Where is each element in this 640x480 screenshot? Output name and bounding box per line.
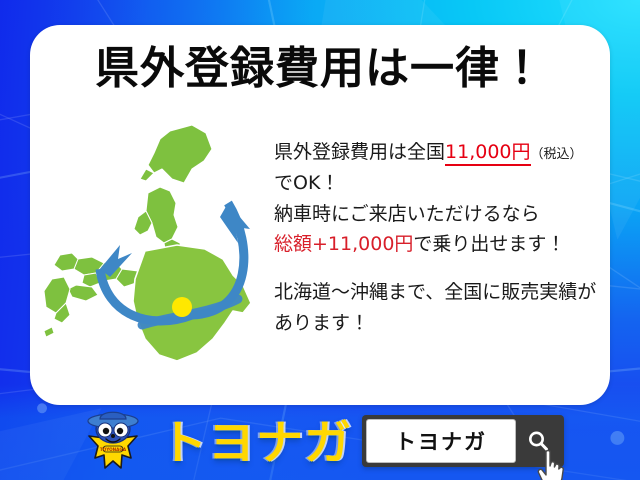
- search-button[interactable]: [516, 419, 560, 463]
- copy-line-3: 納車時にご来店いただけるなら: [274, 199, 604, 230]
- search-icon: [526, 429, 550, 453]
- copy-line-4: 総額+11,000円で乗り出せます！: [274, 229, 604, 260]
- content-card: 県外登録費用は一律！: [30, 25, 610, 405]
- brand-banner: TOYONAGA トヨナガ トヨナガ: [0, 402, 640, 480]
- total-price-highlight: 総額+11,000円: [274, 233, 413, 255]
- japan-map-illustration: [42, 117, 290, 402]
- copy-line-5: 北海道～沖縄まで、全国に販売実績があります！: [274, 277, 604, 339]
- page-title: 県外登録費用は一律！: [30, 47, 610, 91]
- search-widget[interactable]: トヨナガ: [362, 415, 564, 467]
- brand-name: トヨナガ: [160, 420, 352, 467]
- location-marker: [172, 297, 192, 317]
- svg-text:TOYONAGA: TOYONAGA: [100, 447, 127, 452]
- copy-line-4-rest: で乗り出せます！: [413, 233, 565, 255]
- promo-banner-stage: 県外登録費用は一律！: [0, 0, 640, 480]
- body-copy: 県外登録費用は全国11,000円（税込） でOK！ 納車時にご来店いただけるなら…: [274, 137, 604, 339]
- price-highlight: 11,000円: [445, 141, 530, 166]
- copy-line-1: 県外登録費用は全国11,000円（税込）: [274, 137, 604, 168]
- tax-note: （税込）: [531, 147, 583, 162]
- search-input[interactable]: トヨナガ: [366, 419, 516, 463]
- copy-spacer: [274, 260, 604, 277]
- mascot-icon: TOYONAGA: [76, 405, 150, 477]
- copy-line-2: でOK！: [274, 168, 604, 199]
- copy-line-1-prefix: 県外登録費用は全国: [274, 141, 445, 163]
